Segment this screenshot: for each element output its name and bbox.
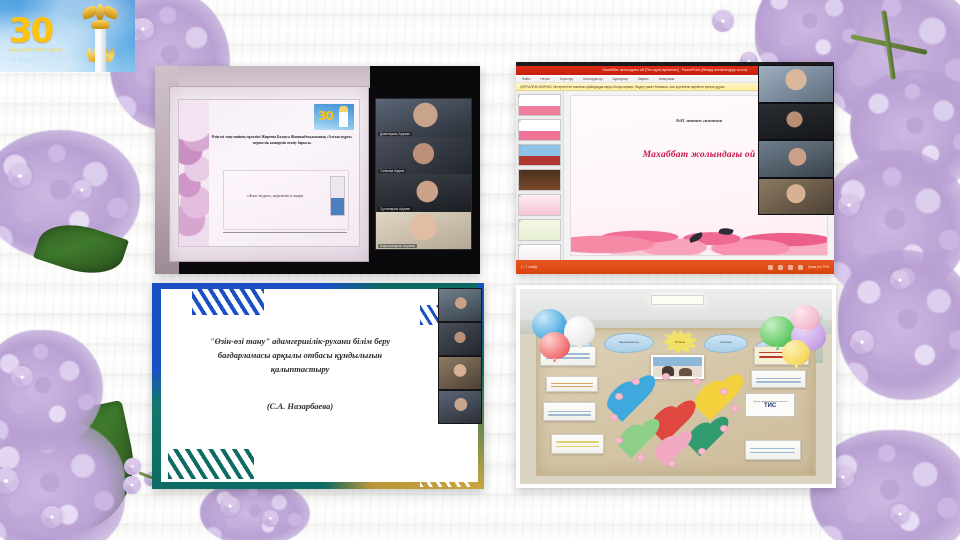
petal-decoration (731, 405, 739, 412)
cloud-label: Шығармашылық (604, 333, 654, 353)
participant-tile[interactable] (758, 65, 834, 103)
status-zoom-level[interactable]: Қазақ тілі 70% (808, 265, 829, 269)
participant-video (439, 391, 481, 423)
projected-slide-title: Өзін-өзі тану пәнінің мұғалімі Жиреева Б… (211, 134, 353, 147)
tab-transitions[interactable]: Ауысулар (612, 77, 627, 81)
projected-slide: 30 Өзін-өзі тану пәнінің мұғалімі Жиреев… (178, 99, 360, 247)
petal-decoration (632, 378, 640, 385)
petal-decoration (720, 388, 728, 395)
status-view-controls[interactable]: Қазақ тілі 70% (768, 265, 829, 270)
participant-video (759, 141, 833, 177)
petal-decoration (615, 437, 623, 444)
participant-tile[interactable]: Бақытжанқызы Аяулым (376, 212, 471, 250)
slide-frame-top (152, 283, 484, 289)
video-participants-strip: Дәмеліқызы Аружан Тәліпова Ақерке Сұлтан… (375, 98, 472, 250)
logo-subtitle-secondary: 30 ЖЫЛ (9, 58, 69, 64)
participant-tile[interactable]: Тәліпова Ақерке (376, 137, 471, 175)
sun-label: Отбасы (662, 330, 698, 355)
slide-inset-photo (330, 176, 345, 216)
participant-tile[interactable] (758, 140, 834, 178)
participant-tile[interactable]: Дәмеліқызы Аружан (376, 99, 471, 137)
panel-quote-slide: "Өзін-өзі тану" адамгершілік-рухани білі… (152, 283, 484, 489)
thumbnail-number: 2 (519, 119, 521, 123)
slide-frame-bottom (152, 482, 484, 489)
petal-decoration (720, 425, 728, 432)
ceiling (520, 289, 832, 320)
tab-help[interactable]: Анықтама (659, 77, 675, 81)
projection-screen: 30 Өзін-өзі тану пәнінің мұғалімі Жиреев… (169, 86, 369, 262)
info-card (745, 440, 800, 460)
slide-thumbnail[interactable]: 4 (518, 169, 561, 191)
slide-badge-monument-icon (339, 106, 348, 127)
tab-design[interactable]: Конструктор (583, 77, 602, 81)
group-photo-card (651, 355, 704, 380)
balloon (791, 305, 819, 330)
participant-video (439, 357, 481, 389)
participant-video (439, 289, 481, 321)
petal-decoration (698, 448, 706, 455)
logo-number: 30 (9, 14, 52, 48)
participant-tile[interactable]: Сұлтанқызы Аружан (376, 174, 471, 212)
tis-card: Тәрбие жұмысының өзекті бағыты ТИС (745, 393, 795, 416)
cork-board: Сүйіспеншілік Шығармашылық Отбасы Ынтыма… (536, 328, 817, 476)
slide-thumbnail[interactable]: 6 (518, 219, 561, 241)
info-card (551, 434, 604, 454)
slide-frame-left (152, 283, 161, 489)
info-card (546, 376, 599, 392)
decorative-stripes-bottom-left (168, 449, 254, 479)
participant-tile[interactable] (758, 103, 834, 141)
projected-slide-subtitle-box: «Асыл жүрек» мерекелік іс-шара (223, 170, 349, 230)
slide-thumbnail[interactable]: 1 (518, 94, 561, 116)
petal-decoration (693, 378, 701, 385)
projected-slide-subtitle: «Асыл жүрек» мерекелік іс-шара (232, 193, 318, 200)
thumbnail-number: 4 (519, 169, 521, 173)
participant-tile[interactable] (438, 288, 482, 322)
ceiling-light (651, 295, 704, 305)
participant-video (439, 323, 481, 355)
thumbnail-number: 3 (519, 144, 521, 148)
panel-projection-photo: 30 Өзін-өзі тану пәнінің мұғалімі Жиреев… (155, 66, 480, 274)
thumbnail-number: 5 (519, 194, 521, 198)
heart-shape (619, 425, 652, 458)
panel-bulletin-board-photo: Сүйіспеншілік Шығармашылық Отбасы Ынтыма… (516, 285, 836, 488)
quote-text: "Өзін-өзі тану" адамгершілік-рухани білі… (198, 335, 402, 376)
slide-divider (223, 232, 347, 233)
balloon (782, 340, 810, 365)
petal-decoration (662, 373, 670, 380)
sorter-view-icon[interactable] (778, 265, 783, 270)
status-slide-counter: 1 / 7 слайд (521, 265, 537, 269)
tab-file[interactable]: Файл (522, 77, 530, 81)
tab-view[interactable]: Көрініс (638, 77, 649, 81)
quote-author: (С.А. Назарбаева) (198, 401, 402, 411)
video-participants-strip (438, 288, 482, 424)
room-wall-top (155, 66, 370, 88)
logo-subtitle: ҚАЗАҚСТАН ТӘУЕЛСІЗДІГІНЕ (9, 48, 67, 53)
petal-decoration (610, 414, 618, 421)
slide-badge-number: 30 (318, 109, 333, 123)
participant-tile[interactable] (438, 356, 482, 390)
heart-shape (697, 382, 736, 421)
slide-floral-border (179, 100, 209, 246)
panel-powerpoint-share: Махаббат жолындағы ой [Тек оқуға арналға… (516, 62, 834, 274)
collage-canvas: 30 ҚАЗАҚСТАН ТӘУЕЛСІЗДІГІНЕ 30 ЖЫЛ 30 Өз… (0, 0, 960, 540)
normal-view-icon[interactable] (768, 265, 773, 270)
info-card (751, 370, 806, 387)
powerpoint-status-bar: 1 / 7 слайд Қазақ тілі 70% (516, 260, 834, 274)
reading-view-icon[interactable] (788, 265, 793, 270)
participant-tile[interactable] (438, 322, 482, 356)
tab-home[interactable]: Негізгі (540, 77, 550, 81)
slideshow-icon[interactable] (798, 265, 803, 270)
slide-anniversary-badge: 30 (314, 104, 354, 130)
participant-name: Сұлтанқызы Аружан (378, 207, 412, 211)
participant-video (759, 104, 833, 140)
slide-thumbnail[interactable]: 2 (518, 119, 561, 141)
slide-thumbnail[interactable]: 5 (518, 194, 561, 216)
participant-tile[interactable] (758, 178, 834, 216)
slide-thumbnail[interactable]: 3 (518, 144, 561, 166)
participant-video (376, 174, 471, 212)
participant-tile[interactable] (438, 390, 482, 424)
participant-name: Тәліпова Ақерке (378, 169, 406, 173)
slide-thumbnail-pane[interactable]: 1 2 3 4 5 6 7 (516, 91, 564, 260)
tis-card-abbr: ТИС (764, 403, 776, 409)
balloon (539, 332, 570, 359)
participant-name: Бақытжанқызы Аяулым (378, 244, 417, 248)
thumbnail-number: 7 (519, 244, 521, 248)
golden-eagle-icon (82, 4, 118, 22)
participant-video (759, 179, 833, 215)
participant-video (376, 99, 471, 137)
video-participants-strip (758, 65, 834, 215)
thumbnail-number: 1 (519, 94, 521, 98)
petal-decoration (637, 454, 645, 461)
thumbnail-number: 6 (519, 219, 521, 223)
decorative-stripes-top-left (192, 289, 264, 315)
participant-video (759, 66, 833, 102)
tab-insert[interactable]: Кірістіру (560, 77, 573, 81)
info-card (543, 402, 596, 421)
classroom-photo: Сүйіспеншілік Шығармашылық Отбасы Ынтыма… (520, 289, 832, 484)
petal-decoration (668, 460, 676, 467)
cloud-label: Ынтымақ (704, 334, 748, 353)
monument-column (95, 26, 106, 72)
anniversary-logo: 30 ҚАЗАҚСТАН ТӘУЕЛСІЗДІГІНЕ 30 ЖЫЛ (0, 0, 135, 72)
participant-name: Дәмеліқызы Аружан (378, 132, 412, 136)
